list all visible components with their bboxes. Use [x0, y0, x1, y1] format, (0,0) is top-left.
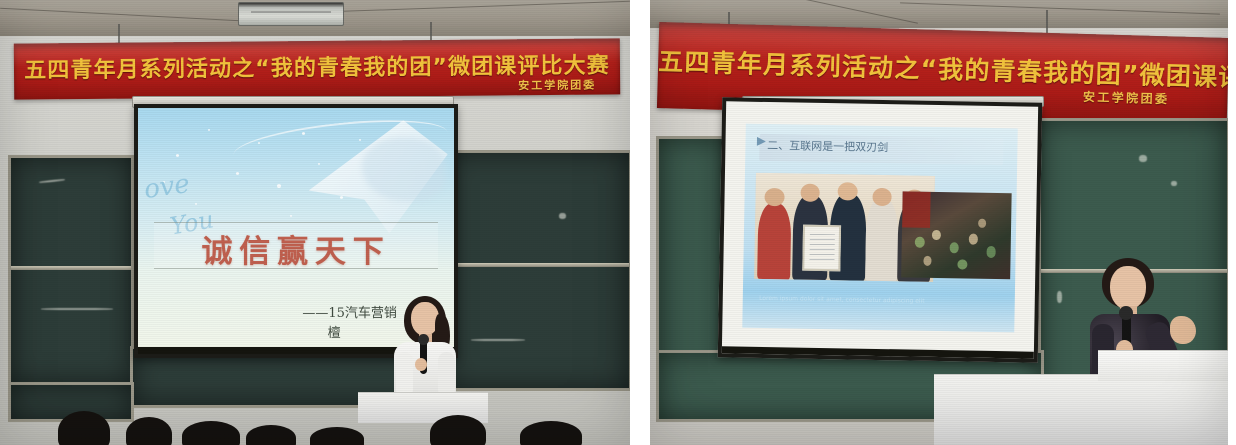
slide-caption: Lorem ipsum dolor sit amet, consectetur …: [759, 295, 925, 305]
chalk-mark: [41, 308, 113, 310]
microphone-head: [1119, 306, 1133, 320]
board-rail: [11, 266, 131, 270]
audience-head: [310, 427, 364, 445]
podium-top-panel: [1098, 350, 1228, 381]
handwriting-love: ove: [142, 169, 191, 205]
event-banner: 五四青年月系列活动之“我的青春我的团”微团课评比大赛 安工学院团委: [14, 38, 620, 99]
chalk-smudge: [559, 213, 566, 219]
banner-sub-text: 安工学院团委: [1083, 88, 1170, 107]
slide-heading: 二、互联网是一把双刃剑: [767, 137, 888, 155]
banner-sub-text: 安工学院团委: [518, 77, 596, 94]
slide-surface: 二、互联网是一把双刃剑: [742, 124, 1018, 333]
audience-head: [58, 411, 110, 445]
podium: [934, 374, 1228, 445]
board-rail: [449, 263, 629, 267]
crowd-photo-red-area: [902, 192, 931, 228]
chalk-mark: [471, 339, 525, 341]
projector: [238, 2, 344, 26]
award-plaque: [803, 225, 842, 272]
projection-screen[interactable]: 二、互联网是一把双刃剑: [718, 97, 1042, 363]
right-photo[interactable]: 五四青年月系列活动之“我的青春我的团”微团课评比大赛 安工学院团委 二、互联网是…: [650, 0, 1228, 445]
slide-title: 诚信赢天下: [138, 226, 454, 271]
presenter-hand: [415, 358, 427, 371]
left-photo[interactable]: 五四青年月系列活动之“我的青春我的团”微团课评比大赛 安工学院团委: [0, 0, 630, 445]
projector-vent: [251, 11, 330, 13]
audience-head: [126, 417, 172, 445]
screen-bottom-bar: [722, 346, 1034, 358]
photo-pair-stage: 五四青年月系列活动微团课评比大赛现场照片 五四青年月系列活动之“我的青春我的团”…: [0, 0, 1236, 445]
audience-head: [430, 415, 486, 445]
chalk-smudge: [1139, 155, 1147, 162]
audience-head: [520, 421, 582, 445]
blackboard-right: [446, 150, 630, 391]
chalk-mark: [39, 179, 65, 184]
blackboard-left: [8, 155, 134, 386]
slide-byline-name: 檀: [328, 322, 341, 341]
microphone-head: [418, 334, 429, 345]
chalk-smudge: [1171, 181, 1177, 186]
presenter-face: [1110, 266, 1146, 310]
audience-row: [0, 399, 630, 445]
banner-string: [1046, 10, 1048, 34]
audience-head: [246, 425, 296, 445]
chalk-smudge: [1057, 291, 1062, 303]
presenter-open-hand: [1170, 316, 1196, 344]
slide-crowd-photo: [901, 192, 1011, 280]
audience-head: [182, 421, 240, 445]
plaque-text-lines: [810, 233, 835, 262]
